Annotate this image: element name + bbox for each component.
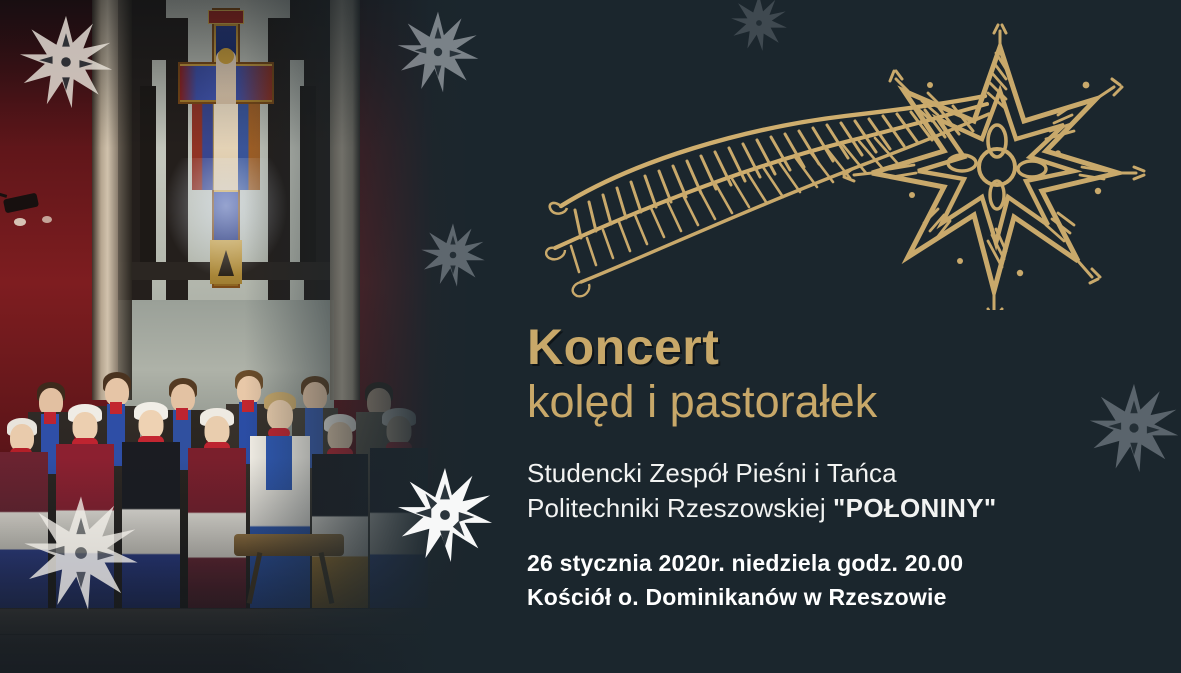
- ensemble-line-2-prefix: Politechniki Rzeszowskiej: [527, 493, 833, 523]
- ensemble-poloniny: "POŁONINY": [833, 493, 996, 523]
- ensemble-name: Studencki Zespół Pieśni i Tańca Politech…: [527, 456, 1147, 525]
- gold-comet-star-graphic: [545, 10, 1181, 310]
- snowflake-mid-left: [420, 222, 486, 288]
- snowflake-upper-mid: [396, 10, 480, 94]
- event-location: Kościół o. Dominikanów w Rzeszowie: [527, 584, 947, 610]
- snowflake-bottom-left: [22, 494, 140, 612]
- concert-poster: Koncert kolęd i pastorałek Studencki Zes…: [0, 0, 1181, 673]
- snowflake-top-faint: [730, 0, 788, 52]
- snowflake-center-bright: [396, 466, 494, 564]
- event-date-time: 26 stycznia 2020r. niedziela godz. 20.00: [527, 550, 963, 576]
- event-details: 26 stycznia 2020r. niedziela godz. 20.00…: [527, 547, 1147, 614]
- headline-koncert: Koncert: [527, 322, 1147, 373]
- ensemble-line-1: Studencki Zespół Pieśni i Tańca: [527, 458, 897, 488]
- poster-text-block: Koncert kolęd i pastorałek Studencki Zes…: [527, 322, 1147, 614]
- snowflake-top-left: [18, 14, 114, 110]
- headline-koled-i-pastoralek: kolęd i pastorałek: [527, 375, 1147, 428]
